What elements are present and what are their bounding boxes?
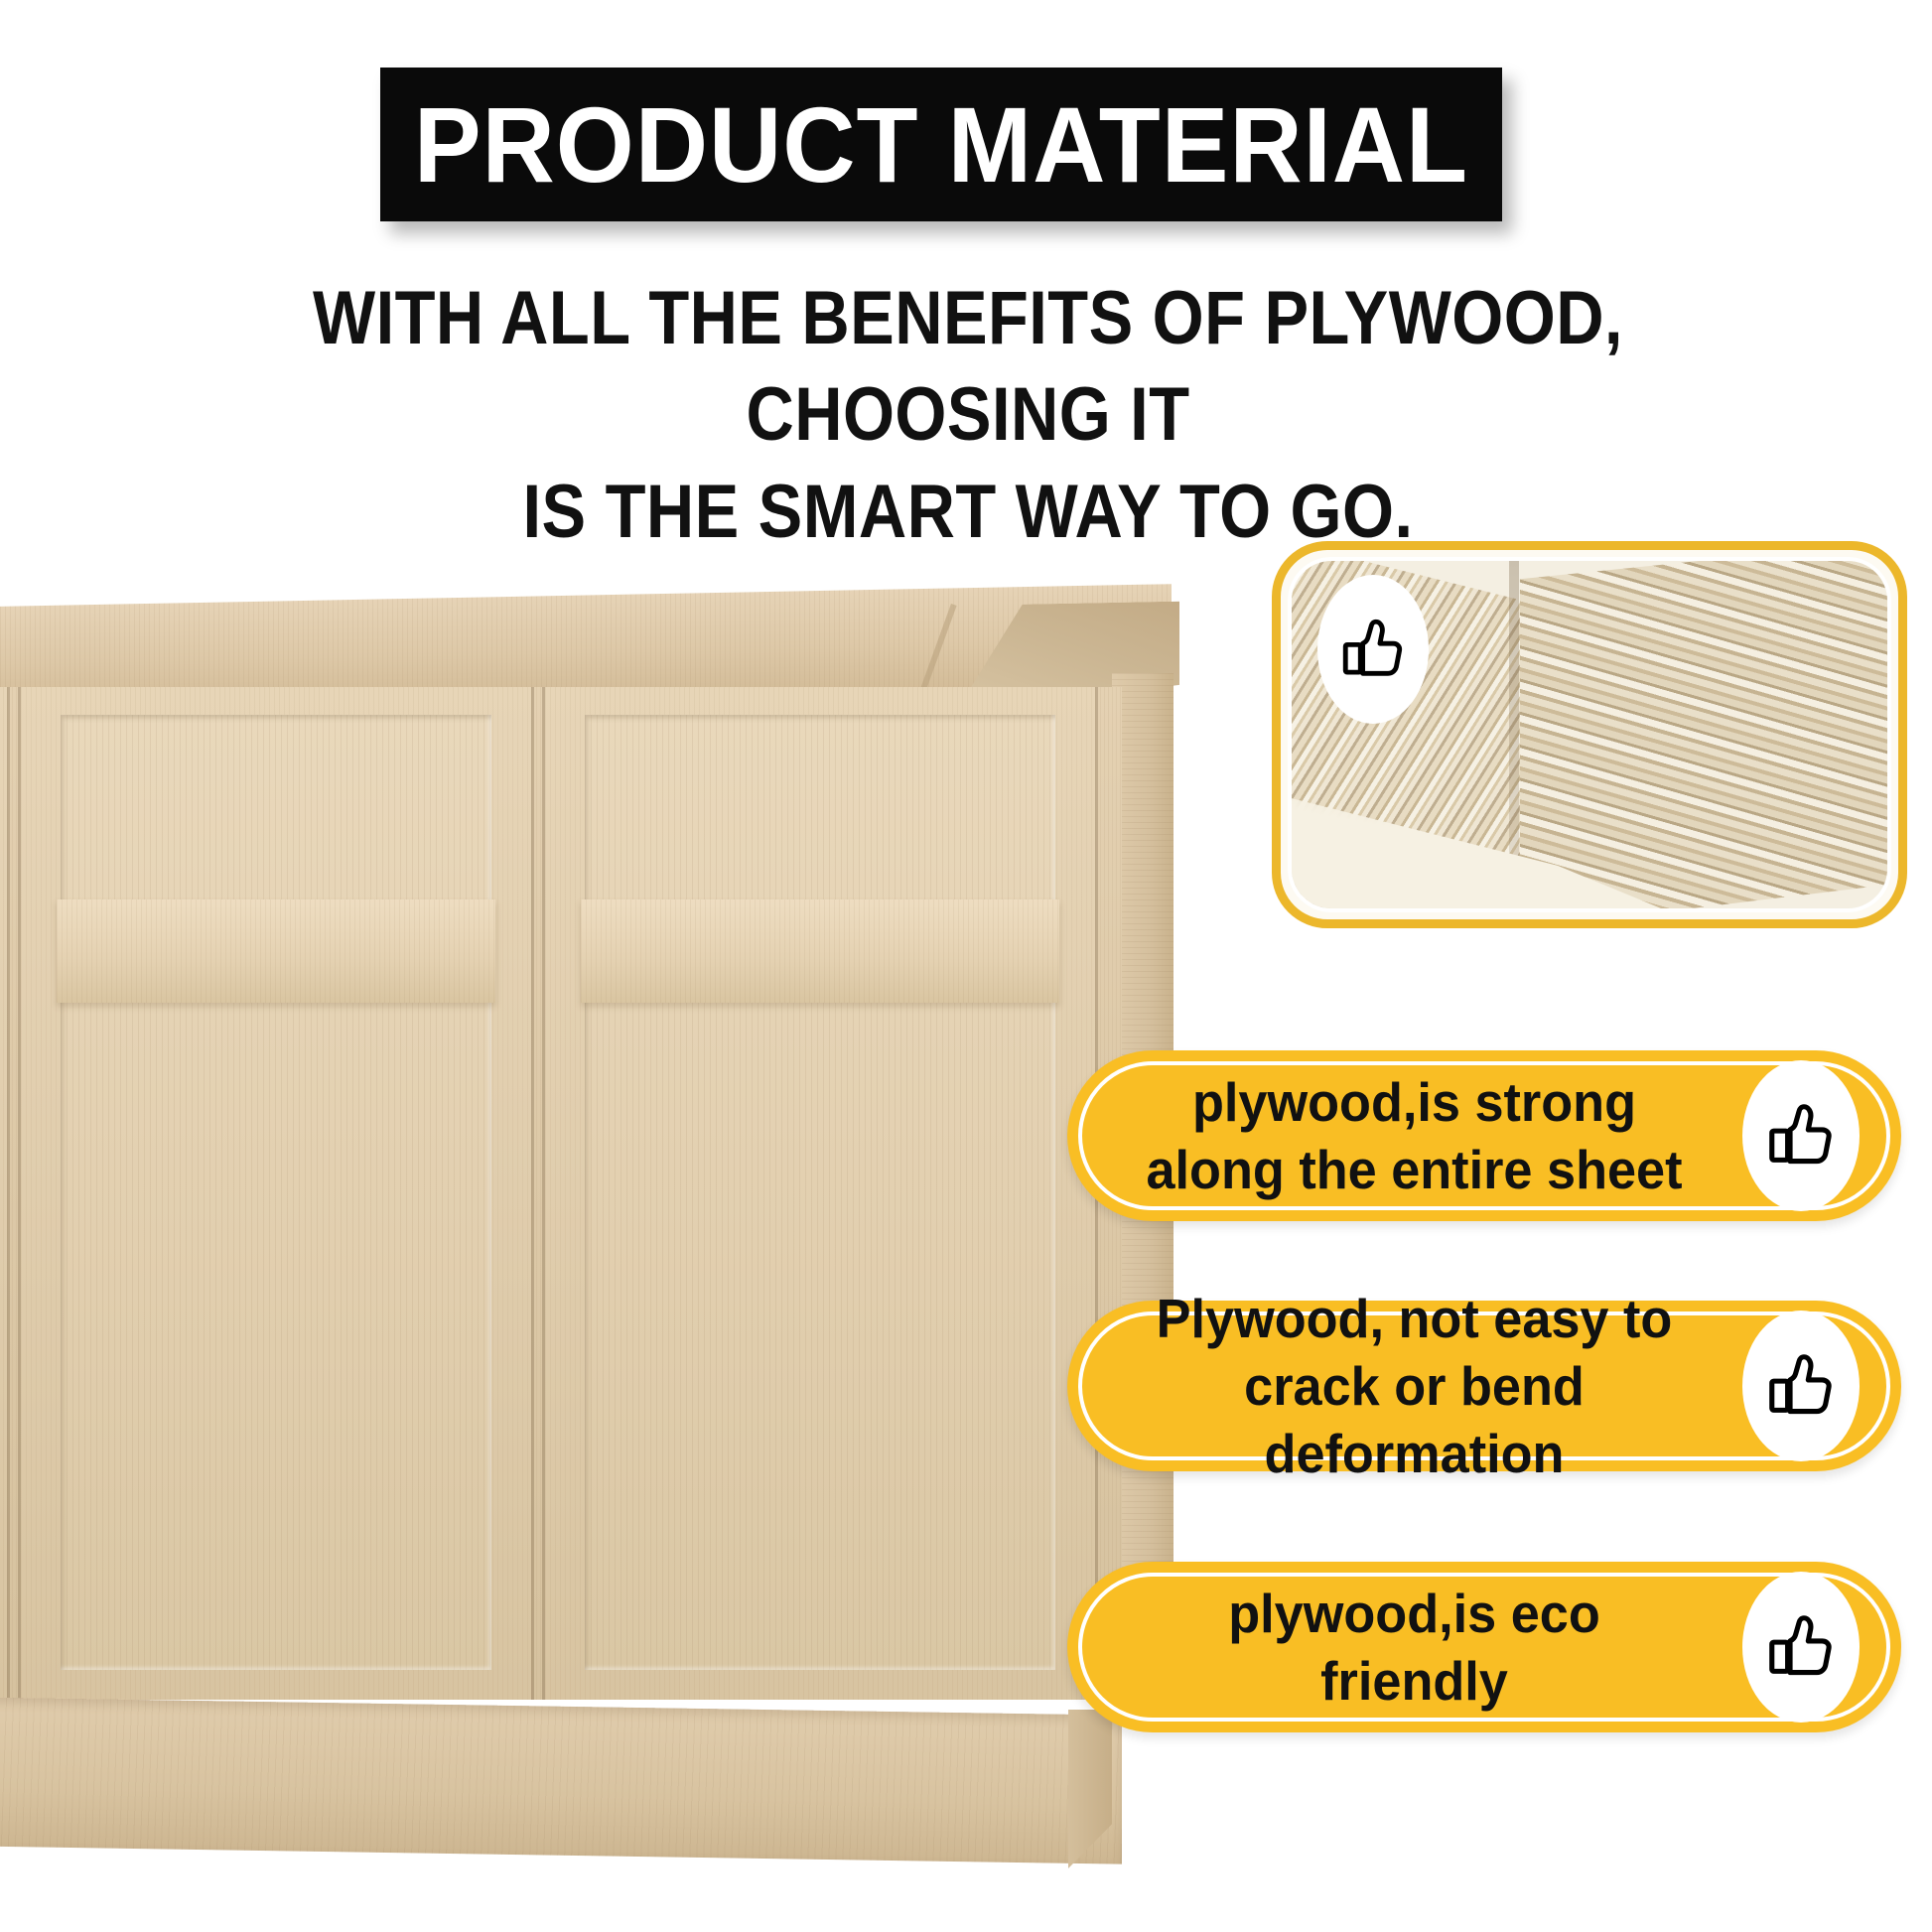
page-title: PRODUCT MATERIAL xyxy=(414,91,1468,199)
feature-pill[interactable]: plywood,is strong along the entire sheet xyxy=(1067,1050,1901,1221)
door-recessed-panel xyxy=(585,715,1055,1670)
cabinet-door-right xyxy=(542,687,1098,1700)
page-subtitle: WITH ALL THE BENEFITS OF PLYWOOD, CHOOSI… xyxy=(129,270,1807,560)
thumbs-up-icon xyxy=(1762,1608,1840,1686)
feature-pill-label: plywood,is eco friendly xyxy=(1084,1580,1725,1715)
material-card-thumbs-up-badge xyxy=(1317,575,1429,724)
feature-thumbs-up-badge xyxy=(1742,1060,1860,1211)
feature-thumbs-up-badge xyxy=(1742,1572,1860,1723)
thumbs-up-icon xyxy=(1762,1097,1840,1174)
product-photo-cabinet xyxy=(0,608,1231,1749)
thumbs-up-icon xyxy=(1336,613,1410,686)
door-gap xyxy=(4,687,13,1700)
door-recessed-panel xyxy=(61,715,491,1670)
cabinet-toe-kick-base xyxy=(0,1696,1122,1864)
plywood-right-face xyxy=(1512,557,1891,912)
door-mid-rail xyxy=(57,899,495,1003)
page-title-banner: PRODUCT MATERIAL xyxy=(380,68,1502,221)
material-sample-photo xyxy=(1288,557,1891,912)
cabinet-door-center xyxy=(18,687,534,1700)
feature-pill[interactable]: plywood,is eco friendly xyxy=(1067,1562,1901,1732)
feature-pill[interactable]: Plywood, not easy to crack or bend defor… xyxy=(1067,1301,1901,1471)
feature-pill-label: Plywood, not easy to crack or bend defor… xyxy=(1084,1285,1725,1488)
cabinet-front-frame xyxy=(0,687,1122,1700)
door-gap xyxy=(528,687,537,1700)
page-subtitle-line-1: WITH ALL THE BENEFITS OF PLYWOOD, CHOOSI… xyxy=(229,270,1706,464)
door-mid-rail xyxy=(581,899,1059,1003)
material-sample-card xyxy=(1272,541,1907,928)
feature-pill-label: plywood,is strong along the entire sheet xyxy=(1084,1068,1725,1203)
thumbs-up-icon xyxy=(1762,1347,1840,1425)
product-material-infographic: PRODUCT MATERIAL WITH ALL THE BENEFITS O… xyxy=(0,0,1932,1932)
feature-thumbs-up-badge xyxy=(1742,1311,1860,1461)
